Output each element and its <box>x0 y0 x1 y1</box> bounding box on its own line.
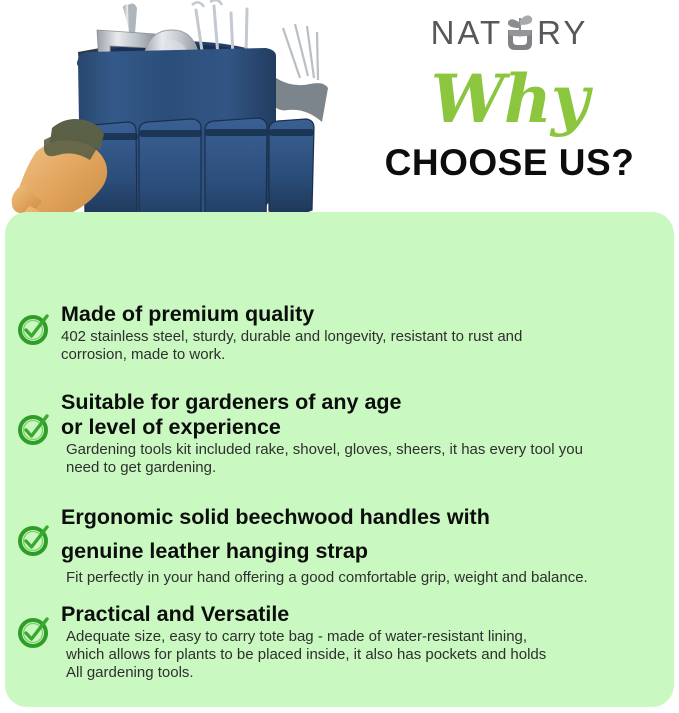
features-panel: Made of premium quality 402 stainless st… <box>5 212 674 707</box>
feature-item: Made of premium quality 402 stainless st… <box>17 302 660 364</box>
why-script-heading: Why <box>340 66 679 132</box>
brand-name-part-2: RY <box>537 16 588 49</box>
page-title: CHOOSE US? <box>340 144 679 181</box>
feature-item: Ergonomic solid beechwood handles with g… <box>17 500 660 587</box>
feature-title: Practical and Versatile <box>61 602 660 627</box>
brand-name-part-1: NAT <box>431 16 504 49</box>
feature-description: Fit perfectly in your hand offering a go… <box>61 569 660 587</box>
feature-item: Suitable for gardeners of any age or lev… <box>17 390 660 477</box>
feature-title: Ergonomic solid beechwood handles with g… <box>61 500 660 568</box>
green-check-circle-icon <box>17 312 51 346</box>
feature-description: Gardening tools kit included rake, shove… <box>61 441 660 477</box>
green-check-circle-icon <box>17 523 51 557</box>
feature-description: 402 stainless steel, sturdy, durable and… <box>61 328 660 364</box>
green-check-circle-icon <box>17 615 51 649</box>
feature-item: Practical and Versatile Adequate size, e… <box>17 602 660 682</box>
header: NAT RY Why CHOOSE US? <box>340 0 679 212</box>
feature-description: Adequate size, easy to carry tote bag - … <box>61 628 660 682</box>
plant-pot-sprout-icon <box>505 12 535 52</box>
feature-title: Made of premium quality <box>61 302 660 327</box>
green-check-circle-icon <box>17 412 51 446</box>
brand-logo: NAT RY <box>340 10 679 54</box>
feature-title: Suitable for gardeners of any age or lev… <box>61 390 660 440</box>
